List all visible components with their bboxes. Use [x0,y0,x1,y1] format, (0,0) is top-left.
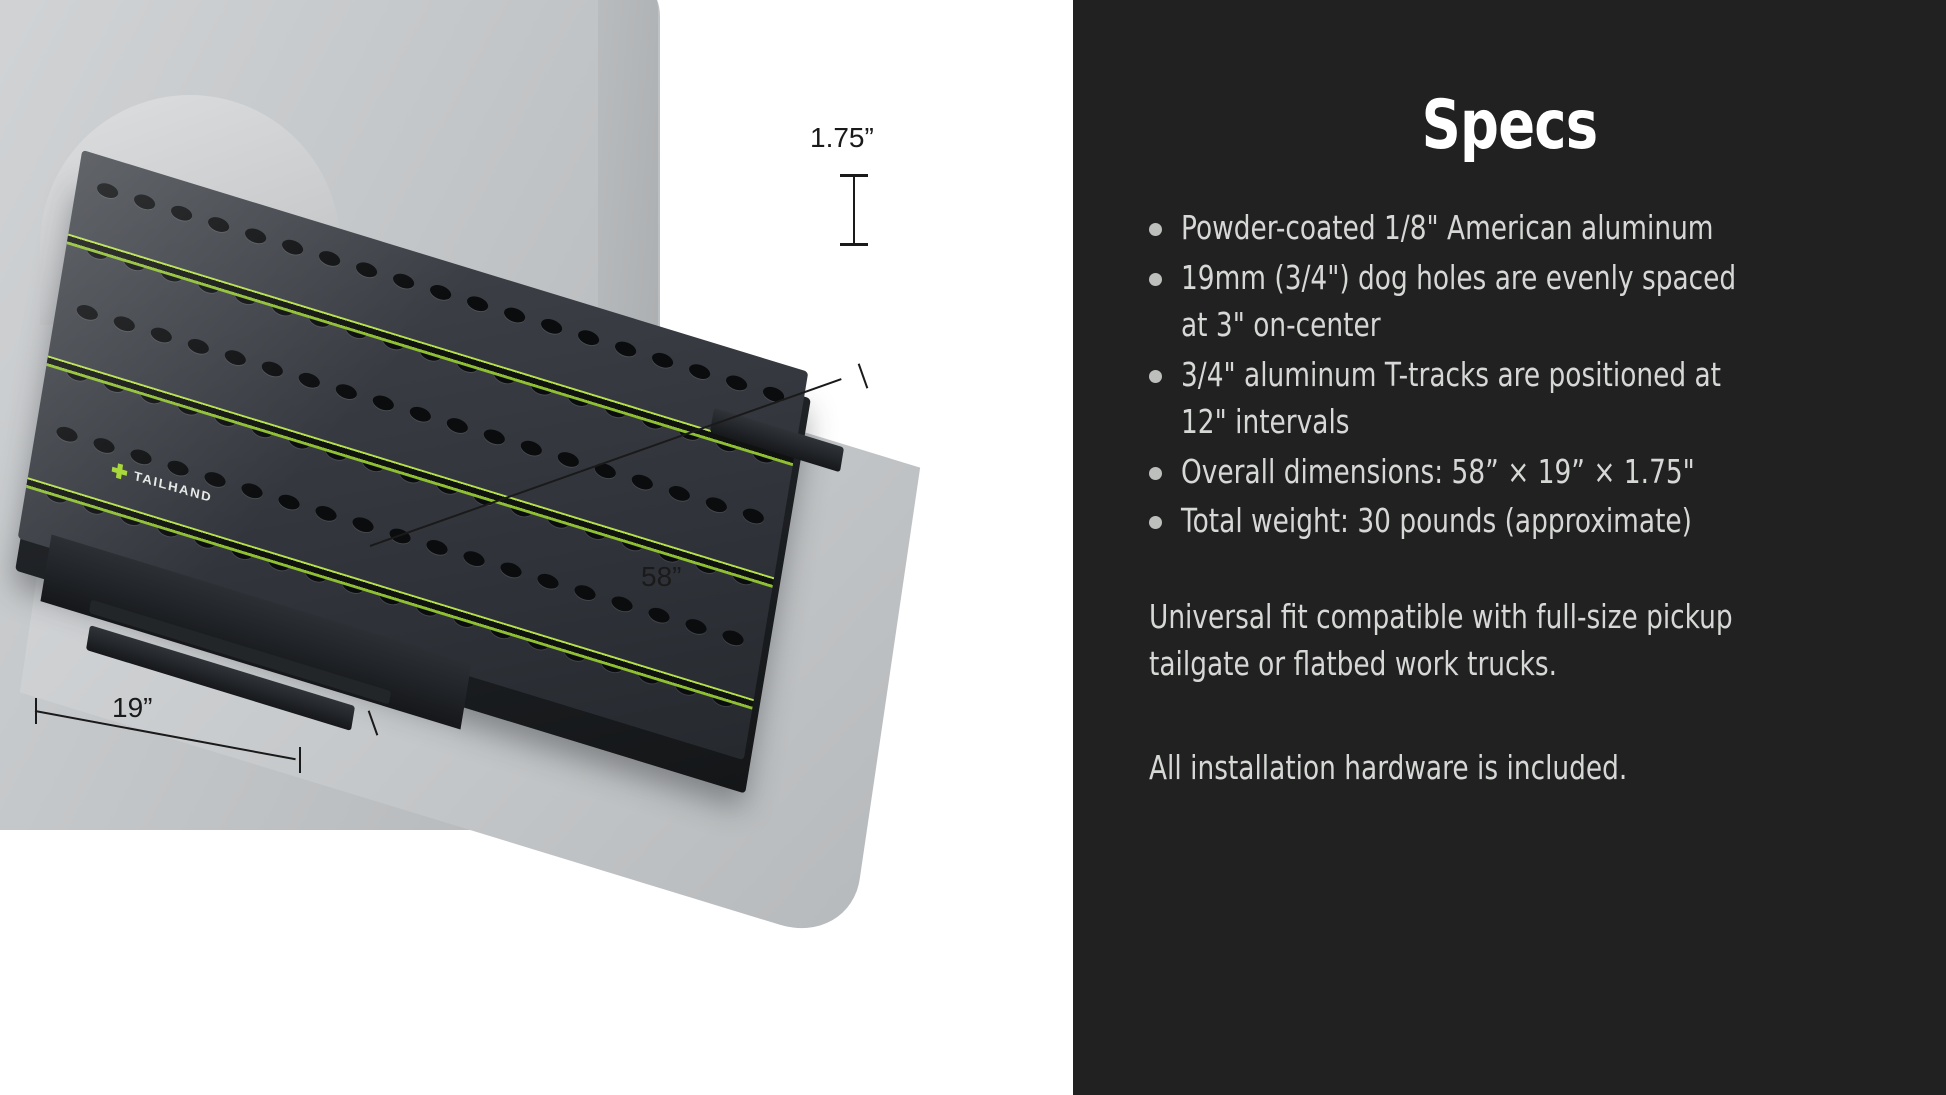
spacer [1135,688,1884,744]
width-dim-label: 19” [112,692,152,724]
bullet-icon [1149,273,1162,286]
width-dim-tick-left [35,698,37,724]
spec-text: Powder-coated 1/8" American aluminum [1181,204,1714,252]
spec-list-item: Powder-coated 1/8" American aluminum [1135,204,1884,252]
width-dim-tick-right [299,747,301,773]
specs-panel: Specs Powder-coated 1/8" American alumin… [1073,0,1946,1095]
bullet-icon [1149,467,1162,480]
bullet-icon [1149,370,1162,383]
spec-text: 3/4" aluminum T-tracks are positioned at… [1181,351,1743,446]
height-dim-label: 1.75” [810,122,874,154]
height-dim-cap-bottom [840,243,868,246]
spec-list-item: 19mm (3/4") dog holes are evenly spaced … [1135,254,1884,349]
spec-text: 19mm (3/4") dog holes are evenly spaced … [1181,254,1743,349]
spacer [1135,547,1884,593]
spec-list-item: Total weight: 30 pounds (approximate) [1135,497,1884,545]
specs-title: Specs [1210,92,1809,160]
spec-text: Overall dimensions: 58” × 19” × 1.75" [1181,448,1695,496]
hardware-note: All installation hardware is included. [1135,744,1884,792]
spec-text: Total weight: 30 pounds (approximate) [1181,497,1692,545]
spec-list-item: Overall dimensions: 58” × 19” × 1.75" [1135,448,1884,496]
spec-list: Powder-coated 1/8" American aluminum 19m… [1135,204,1884,545]
product-render: TAILHAND 1.75” 58” 19” [0,0,1073,1095]
fitment-note: Universal fit compatible with full-size … [1135,593,1884,688]
spec-list-item: 3/4" aluminum T-tracks are positioned at… [1135,351,1884,446]
fitment-note-text: Universal fit compatible with full-size … [1149,593,1737,688]
product-spec-sheet: TAILHAND 1.75” 58” 19” Specs Powder-coat… [0,0,1946,1095]
length-dim-tick-right [858,363,869,388]
bullet-icon [1149,516,1162,529]
hardware-note-text: All installation hardware is included. [1149,744,1627,792]
bullet-icon [1149,223,1162,236]
length-dim-label: 58” [641,561,681,593]
height-dim-line [853,176,855,246]
